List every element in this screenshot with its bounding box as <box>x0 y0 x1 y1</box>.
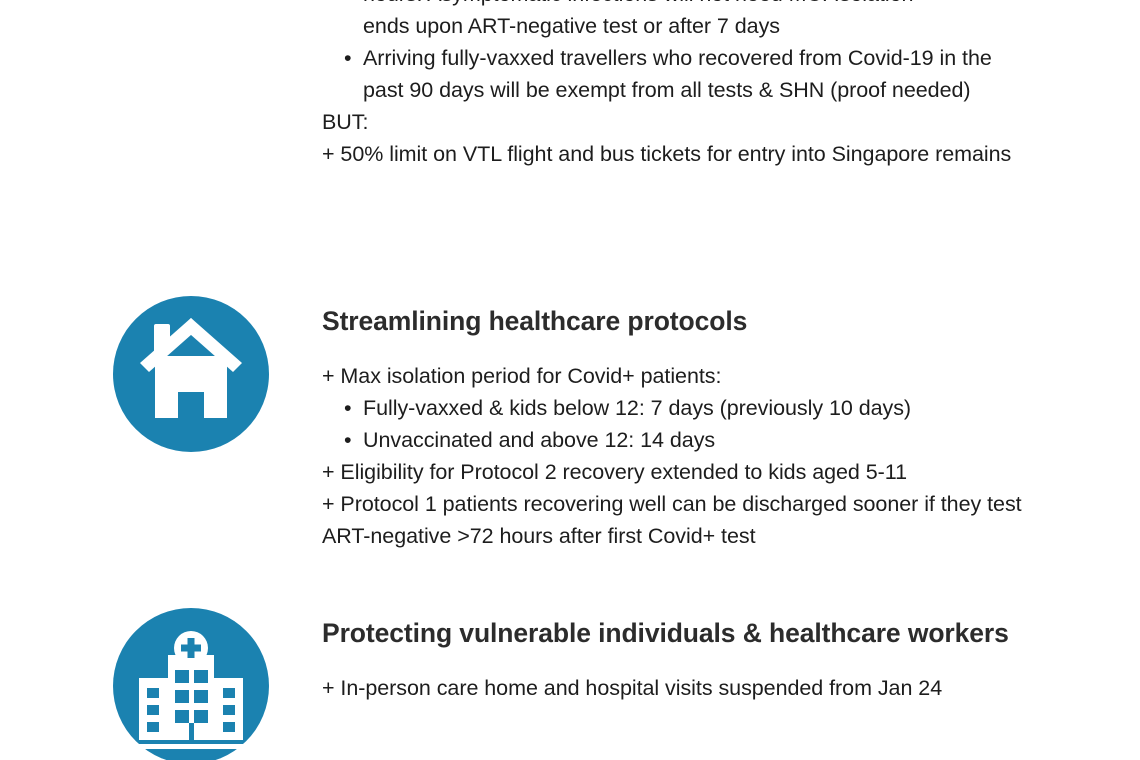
section-protecting-vulnerable-title: Protecting vulnerable individuals & heal… <box>322 612 1028 655</box>
border-measures-bullet-1-text: Arriving fully-vaxxed travellers who rec… <box>363 46 992 102</box>
section-healthcare-protocols-body: Streamlining healthcare protocols + Max … <box>322 300 1028 552</box>
section-border-measures-body: hours. Asymptomatic infections will not … <box>322 0 1028 170</box>
border-measures-continuation-line-2: ends upon ART-negative test or after 7 d… <box>322 10 1028 42</box>
bullet-dot-icon: • <box>344 392 351 424</box>
border-measures-but-label: BUT: <box>322 106 1028 138</box>
section-protecting-vulnerable-body: Protecting vulnerable individuals & heal… <box>322 612 1028 704</box>
healthcare-item-1: + Max isolation period for Covid+ patien… <box>322 360 1028 392</box>
healthcare-bullet-2: • Unvaccinated and above 12: 14 days <box>322 424 1028 456</box>
border-measures-bullet-1: • Arriving fully-vaxxed travellers who r… <box>322 42 1028 106</box>
border-measures-continuation-line-1: hours. Asymptomatic infections will not … <box>322 0 1028 10</box>
bullet-dot-icon: • <box>344 42 351 74</box>
infographic-page: hours. Asymptomatic infections will not … <box>0 0 1140 760</box>
bullet-dot-icon: • <box>344 424 351 456</box>
hospital-icon <box>113 608 269 760</box>
healthcare-item-3: + Protocol 1 patients recovering well ca… <box>322 488 1028 552</box>
healthcare-bullet-2-text: Unvaccinated and above 12: 14 days <box>363 428 715 452</box>
house-icon <box>113 296 269 452</box>
border-measures-but-item: + 50% limit on VTL flight and bus ticket… <box>322 138 1028 170</box>
healthcare-item-2: + Eligibility for Protocol 2 recovery ex… <box>322 456 1028 488</box>
healthcare-bullet-1-text: Fully-vaxxed & kids below 12: 7 days (pr… <box>363 396 911 420</box>
protecting-item-1: + In-person care home and hospital visit… <box>322 672 1028 704</box>
section-healthcare-protocols-title: Streamlining healthcare protocols <box>322 300 1028 343</box>
healthcare-bullet-1: • Fully-vaxxed & kids below 12: 7 days (… <box>322 392 1028 424</box>
